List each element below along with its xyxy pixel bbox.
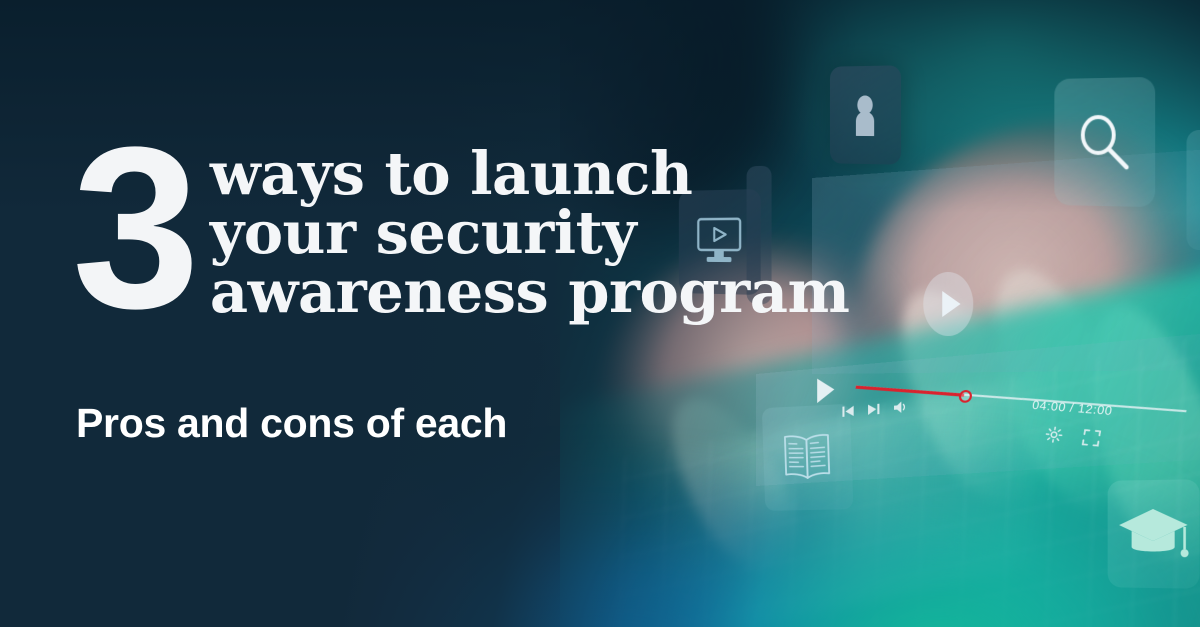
play-circle-icon[interactable]: [923, 272, 973, 337]
player-right-buttons[interactable]: [1044, 426, 1101, 447]
big-number: 3: [72, 134, 194, 323]
hud-card-search[interactable]: [1054, 77, 1155, 207]
player-progress-filled: [855, 386, 964, 397]
page-title: ways to launch your security awareness p…: [210, 138, 849, 321]
graduation-cap-icon: [1117, 505, 1189, 564]
user-icon: [851, 94, 880, 136]
player-transport-buttons[interactable]: [841, 400, 908, 419]
headline-line-2: your security: [210, 203, 849, 262]
headline-block: 3 ways to launch your security awareness…: [72, 138, 849, 323]
next-track-icon[interactable]: [867, 402, 880, 416]
fullscreen-icon[interactable]: [1081, 429, 1101, 447]
previous-track-icon[interactable]: [841, 404, 854, 418]
hud-card-certificate[interactable]: [1108, 479, 1200, 589]
player-play-icon[interactable]: [817, 377, 834, 403]
headline-line-3: awareness program: [210, 262, 849, 321]
subtitle: Pros and cons of each: [76, 401, 507, 446]
play-triangle-icon: [942, 291, 960, 317]
volume-icon[interactable]: [893, 400, 909, 415]
headline-line-1: ways to launch: [210, 144, 849, 203]
search-icon: [1074, 111, 1134, 174]
player-progress-scrubber[interactable]: [959, 390, 972, 404]
player-time-display: 04:00 / 12:00: [1031, 399, 1113, 418]
promo-banner: 04:00 / 12:00: [0, 0, 1200, 627]
gear-icon[interactable]: [1044, 426, 1064, 444]
hud-panel-sliver-right: [1187, 130, 1200, 251]
